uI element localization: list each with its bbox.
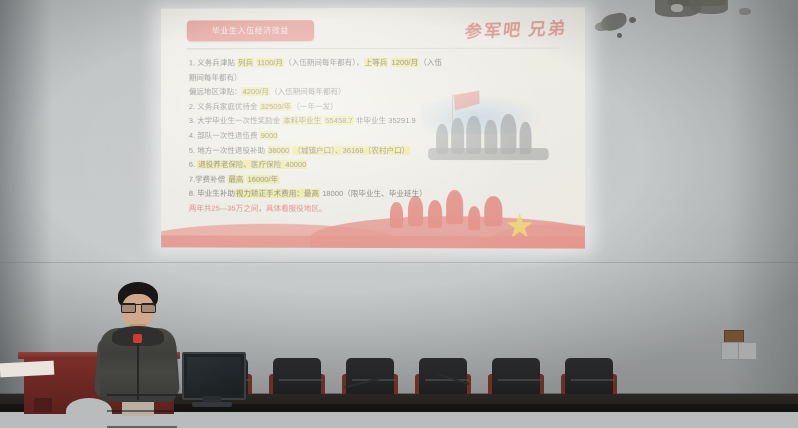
jacket-zipper — [137, 334, 139, 400]
chair-back — [346, 358, 394, 398]
podium-papers — [0, 361, 54, 378]
jacket-seam — [107, 394, 177, 396]
jacket-seam — [107, 426, 177, 428]
monitor-base — [192, 402, 232, 407]
presenter — [96, 282, 180, 412]
chair-back — [273, 358, 321, 398]
podium-leg — [34, 398, 52, 412]
chair-seam — [571, 379, 615, 381]
chair-back — [492, 358, 540, 398]
monitor-screen — [187, 357, 241, 395]
jacket-seam — [107, 410, 177, 412]
lanyard-badge-icon — [133, 334, 142, 343]
glasses-bridge-icon — [121, 304, 155, 312]
chair-back — [565, 358, 613, 398]
chair-seam — [498, 379, 542, 381]
classroom-scene: ★ 毕业生入伍经济效益 参军吧 兄弟 1. 义务兵津贴 列兵 1100/月（入伍… — [0, 0, 798, 412]
chair-seam — [279, 379, 323, 381]
chair-back — [419, 358, 467, 398]
desk-monitor — [182, 352, 246, 400]
